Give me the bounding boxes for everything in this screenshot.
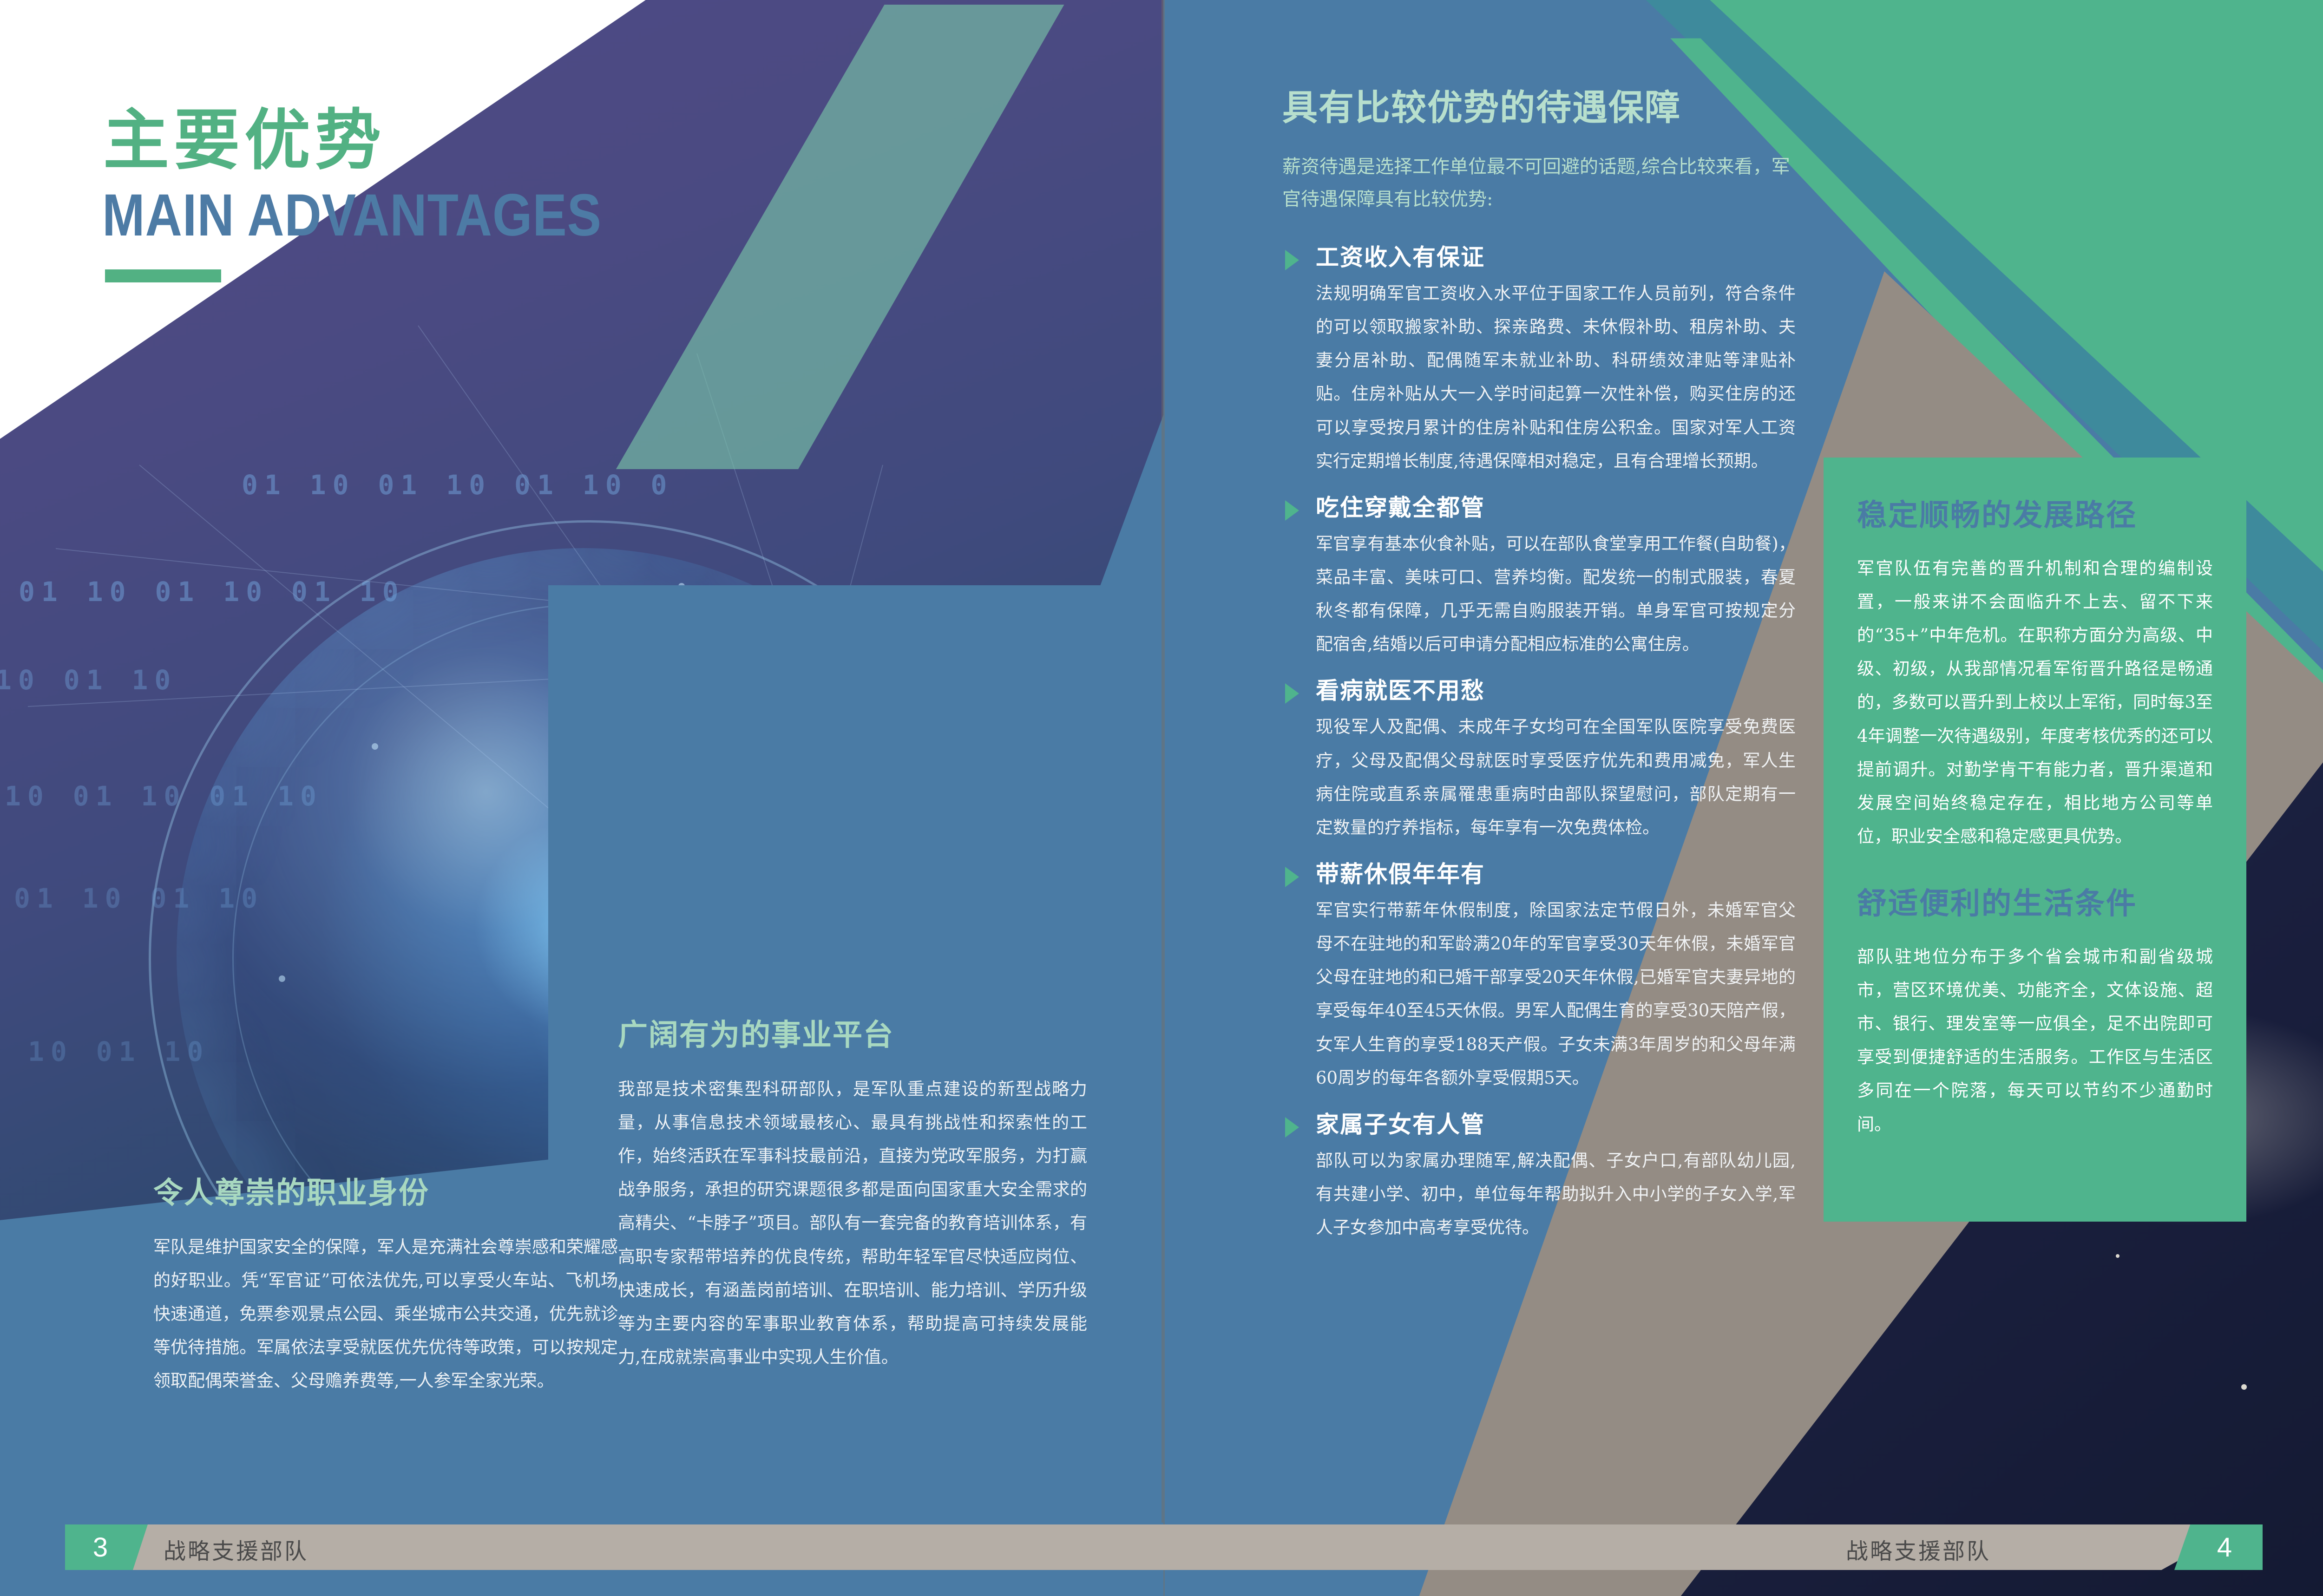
pay-section-title: 具有比较优势的待遇保障 [1282,79,1796,130]
left-page: 01 10 01 10 01 10 0 01 10 01 10 01 10 10… [0,0,1163,1596]
triangle-bullet-icon [1285,250,1299,270]
right-footer-bar [1163,1524,2244,1570]
right-footer-label: 战略支援部队 [1846,1533,1991,1565]
career-section: 广阔有为的事业平台 我部是技术密集型科研部队，是军队重点建设的新型战略力量，从事… [618,1017,1087,1374]
bullet-heading: 家属子女有人管 [1316,1111,1796,1138]
binary-decor-text: 01 10 01 10 01 10 [19,576,405,608]
green-box-title-2: 舒适便利的生活条件 [1857,886,2213,922]
title-underline-rule [105,269,221,282]
bullet-item: 工资收入有保证 法规明确军官工资收入水平位于国家工作人员前列，符合条件的可以领取… [1282,243,1796,478]
page-title-cn: 主要优势 [103,106,386,175]
identity-body: 军队是维护国家安全的保障，军人是充满社会尊崇感和荣耀感的好职业。凭“军官证”可依… [153,1230,618,1398]
bullet-body: 部队可以为家属办理随军,解决配偶、子女户口,有部队幼儿园,有共建小学、初中，单位… [1316,1144,1796,1244]
bullet-body: 军官实行带薪年休假制度，除国家法定节假日外，未婚军官父母不在驻地的和军龄满20年… [1316,894,1796,1095]
bullet-heading: 看病就医不用愁 [1316,677,1796,705]
green-box-body-2: 部队驻地位分布于多个省会城市和副省级城市，营区环境优美、功能齐全，文体设施、超市… [1857,940,2213,1141]
green-box-body-1: 军官队伍有完善的晋升机制和合理的编制设置，一般来讲不会面临升不上去、留不下来的“… [1857,552,2213,853]
binary-decor-text: 10 01 10 [0,664,177,696]
career-title: 广阔有为的事业平台 [618,1017,1087,1053]
triangle-bullet-icon [1285,1117,1299,1138]
binary-decor-text: 10 01 10 01 10 [5,780,323,812]
bullet-item: 吃住穿戴全都管 军官享有基本伙食补贴，可以在部队食堂享用工作餐(自助餐)，菜品丰… [1282,494,1796,661]
bullet-heading: 工资收入有保证 [1316,243,1796,271]
triangle-bullet-icon [1285,683,1299,704]
left-footer-label: 战略支援部队 [164,1533,308,1565]
bullet-item: 带薪休假年年有 军官实行带薪年休假制度，除国家法定节假日外，未婚军官父母不在驻地… [1282,860,1796,1095]
page-title-en: MAIN ADVANTAGES [102,186,602,245]
bullet-heading: 吃住穿戴全都管 [1316,494,1796,522]
brochure-spread: 01 10 01 10 01 10 0 01 10 01 10 01 10 10… [0,0,2323,1596]
bullet-item: 家属子女有人管 部队可以为家属办理随军,解决配偶、子女户口,有部队幼儿园,有共建… [1282,1111,1796,1244]
binary-decor-text: 10 01 10 [28,1036,210,1067]
bullet-heading: 带薪休假年年有 [1316,860,1796,888]
bullet-body: 法规明确军官工资收入水平位于国家工作人员前列，符合条件的可以领取搬家补助、探亲路… [1316,277,1796,478]
network-node [372,743,378,750]
bullet-body: 现役军人及配偶、未成年子女均可在全国军队医院享受免费医疗，父母及配偶父母就医时享… [1316,710,1796,844]
page-spine-divider [1161,0,1165,1596]
career-body: 我部是技术密集型科研部队，是军队重点建设的新型战略力量，从事信息技术领域最核心、… [618,1073,1087,1374]
identity-title: 令人尊崇的职业身份 [153,1175,618,1211]
bullet-body: 军官享有基本伙食补贴，可以在部队食堂享用工作餐(自助餐)，菜品丰富、美味可口、营… [1316,527,1796,661]
triangle-bullet-icon [1285,500,1299,521]
triangle-bullet-icon [1285,867,1299,887]
development-lifestyle-box: 稳定顺畅的发展路径 军官队伍有完善的晋升机制和合理的编制设置，一般来讲不会面临升… [1824,458,2246,1222]
bullet-item: 看病就医不用愁 现役军人及配偶、未成年子女均可在全国军队医院享受免费医疗，父母及… [1282,677,1796,844]
identity-section: 令人尊崇的职业身份 军队是维护国家安全的保障，军人是充满社会尊崇感和荣耀感的好职… [153,1175,618,1398]
pay-benefits-section: 具有比较优势的待遇保障 薪资待遇是选择工作单位最不可回避的话题,综合比较来看，军… [1282,79,1796,1260]
binary-decor-text: 01 10 01 10 01 10 0 [242,469,673,501]
pay-section-intro: 薪资待遇是选择工作单位最不可回避的话题,综合比较来看，军官待遇保障具有比较优势: [1282,150,1796,216]
green-box-title-1: 稳定顺畅的发展路径 [1857,497,2213,533]
binary-decor-text: 01 10 01 10 [14,883,264,914]
network-node [279,975,285,982]
